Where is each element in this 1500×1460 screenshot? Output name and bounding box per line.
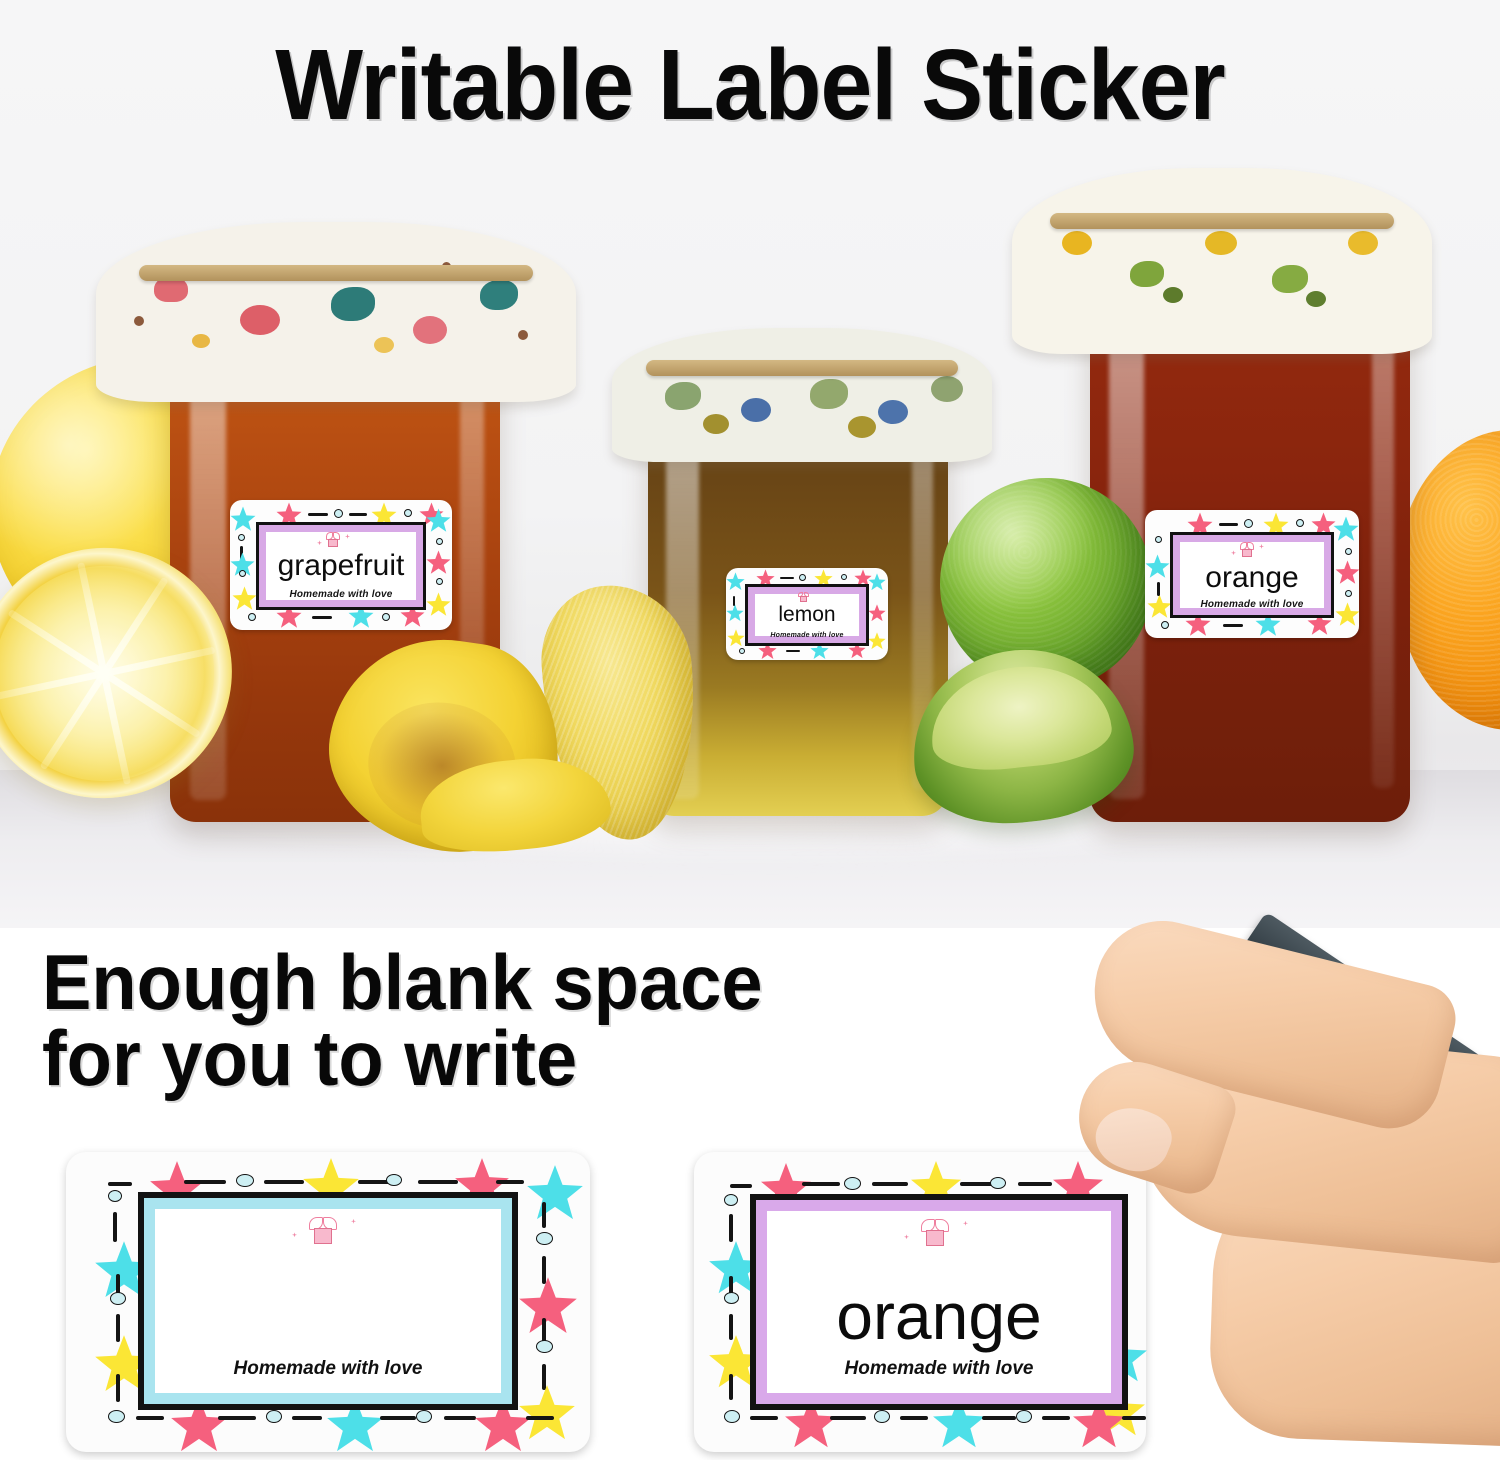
dot-icon <box>1296 519 1304 527</box>
dash-icon <box>312 616 332 619</box>
dot-icon <box>1016 1410 1032 1423</box>
dot-icon <box>436 538 443 545</box>
demo-inner-frame: orange Homemade with love <box>750 1194 1128 1410</box>
headline-line-2: for you to write <box>42 1020 763 1096</box>
dash-icon <box>380 1416 416 1420</box>
gift-box-icon <box>304 1214 342 1248</box>
dot-icon <box>844 1177 861 1190</box>
star-icon <box>426 550 451 575</box>
dash-icon <box>750 1416 778 1420</box>
jar-label-grapefruit[interactable]: grapefruit Homemade with love <box>230 500 452 630</box>
dot-icon <box>334 509 343 518</box>
lime-flesh <box>925 658 1115 776</box>
cloth-ruffle <box>96 222 576 402</box>
dash-icon <box>1157 582 1160 596</box>
label-word-lemon: lemon <box>748 603 866 627</box>
headline-line-1: Enough blank space <box>42 938 763 1026</box>
cloth-cover-grapefruit <box>96 222 576 402</box>
dot-icon <box>536 1232 553 1245</box>
star-icon <box>1147 594 1172 619</box>
jar-label-lemon[interactable]: lemon Homemade with love <box>726 568 888 660</box>
star-icon <box>230 506 256 532</box>
dot-icon <box>1345 590 1352 597</box>
dot-icon <box>536 1340 553 1353</box>
dot-icon <box>1161 621 1169 629</box>
star-icon <box>1335 602 1359 627</box>
dot-icon <box>108 1410 125 1423</box>
dot-icon <box>1345 548 1352 555</box>
dot-icon <box>874 1410 890 1423</box>
dot-icon <box>236 1174 254 1187</box>
product-photo-panel: grapefruit Homemade with love lemon Home… <box>0 0 1500 928</box>
dot-icon <box>990 1177 1006 1189</box>
dot-icon <box>841 574 847 580</box>
cloth-ruffle <box>1012 168 1432 354</box>
dash-icon <box>729 1314 733 1340</box>
star-icon <box>526 1164 584 1222</box>
dash-icon <box>108 1182 132 1186</box>
dash-icon <box>349 513 367 516</box>
dash-icon <box>292 1416 322 1420</box>
cloth-zigzag-edge <box>612 439 992 462</box>
cloth-cover-orange <box>1012 168 1432 354</box>
dash-icon <box>218 1416 256 1420</box>
dash-icon <box>1223 624 1243 627</box>
demo-inner-frame: Homemade with love <box>138 1192 518 1410</box>
label-inner-frame: orange Homemade with love <box>1170 532 1334 618</box>
dash-icon <box>113 1212 117 1242</box>
star-icon <box>1335 560 1359 585</box>
label-word-orange: orange <box>1173 561 1331 595</box>
dot-icon <box>739 648 745 654</box>
dot-icon <box>404 509 412 517</box>
whole-orange-fruit <box>1396 430 1500 730</box>
label-inner-frame: lemon Homemade with love <box>745 584 869 646</box>
dash-icon <box>1219 523 1238 526</box>
star-icon <box>868 573 886 591</box>
cloth-twine-band <box>139 265 533 281</box>
dot-icon <box>724 1410 740 1423</box>
label-tagline: Homemade with love <box>1173 599 1331 610</box>
dash-icon <box>496 1180 524 1184</box>
dash-icon <box>786 650 800 652</box>
gift-box-icon <box>916 1216 954 1250</box>
star-icon <box>232 586 257 611</box>
cloth-twine-band <box>646 360 958 376</box>
cloth-twine-band <box>1050 213 1394 229</box>
cloth-ruffle <box>612 328 992 462</box>
dash-icon <box>1122 1416 1146 1420</box>
dash-icon <box>780 577 794 579</box>
label-tagline: Homemade with love <box>748 632 866 639</box>
cloth-zigzag-edge <box>1012 331 1432 354</box>
label-inner-frame: grapefruit Homemade with love <box>256 522 426 610</box>
dash-icon <box>308 513 328 516</box>
dot-icon <box>108 1190 122 1202</box>
dash-icon <box>136 1416 164 1420</box>
cloth-zigzag-edge <box>96 379 576 402</box>
dot-icon <box>266 1410 282 1423</box>
label-word-grapefruit: grapefruit <box>259 549 423 583</box>
demo-label-blank[interactable]: Homemade with love <box>66 1152 590 1452</box>
dash-icon <box>116 1314 120 1342</box>
dash-icon <box>542 1256 546 1284</box>
demo-tagline: Homemade with love <box>144 1358 512 1380</box>
dash-icon <box>1042 1416 1070 1420</box>
dash-icon <box>982 1416 1016 1420</box>
cloth-cover-lemon <box>612 328 992 462</box>
dot-icon <box>386 1174 402 1186</box>
dash-icon <box>116 1374 120 1402</box>
label-tagline: Homemade with love <box>259 589 423 600</box>
dot-icon <box>1244 519 1253 528</box>
dash-icon <box>526 1416 554 1420</box>
dash-icon <box>184 1180 226 1184</box>
dot-icon <box>1155 536 1162 543</box>
dash-icon <box>1018 1182 1052 1186</box>
star-icon <box>518 1276 578 1336</box>
dot-icon <box>724 1194 738 1206</box>
dash-icon <box>542 1202 546 1228</box>
star-icon <box>727 629 745 647</box>
gift-box-icon <box>323 531 343 549</box>
demo-label-orange[interactable]: orange Homemade with love <box>694 1152 1146 1452</box>
demo-word-orange: orange <box>756 1278 1122 1354</box>
gift-box-icon <box>1237 541 1257 559</box>
dash-icon <box>729 1214 733 1242</box>
dash-icon <box>900 1416 928 1420</box>
dot-icon <box>436 578 443 585</box>
dot-icon <box>382 613 390 621</box>
dash-icon <box>418 1180 458 1184</box>
star-icon <box>1333 516 1359 542</box>
dash-icon <box>730 1184 752 1188</box>
dot-icon <box>724 1292 739 1304</box>
page-title: Writable Label Sticker <box>53 34 1448 136</box>
dash-icon <box>264 1180 304 1184</box>
dash-icon <box>444 1416 476 1420</box>
dot-icon <box>248 613 256 621</box>
dot-icon <box>238 534 245 541</box>
star-icon <box>726 604 744 622</box>
star-icon <box>426 592 451 617</box>
star-icon <box>518 1384 576 1442</box>
dash-icon <box>830 1416 866 1420</box>
dot-icon <box>239 570 246 577</box>
jar-label-orange[interactable]: orange Homemade with love <box>1145 510 1359 638</box>
star-icon <box>1145 554 1170 579</box>
dash-icon <box>802 1182 840 1186</box>
dot-icon <box>110 1292 126 1305</box>
dash-icon <box>872 1182 908 1186</box>
dash-icon <box>542 1364 546 1390</box>
dash-icon <box>729 1374 733 1400</box>
dot-icon <box>799 574 806 581</box>
star-icon <box>726 572 745 591</box>
feature-headline: Enough blank space for you to write <box>42 944 763 1097</box>
star-icon <box>868 632 886 650</box>
dot-icon <box>416 1410 432 1423</box>
demo-tagline: Homemade with love <box>756 1358 1122 1380</box>
star-icon <box>868 604 886 622</box>
